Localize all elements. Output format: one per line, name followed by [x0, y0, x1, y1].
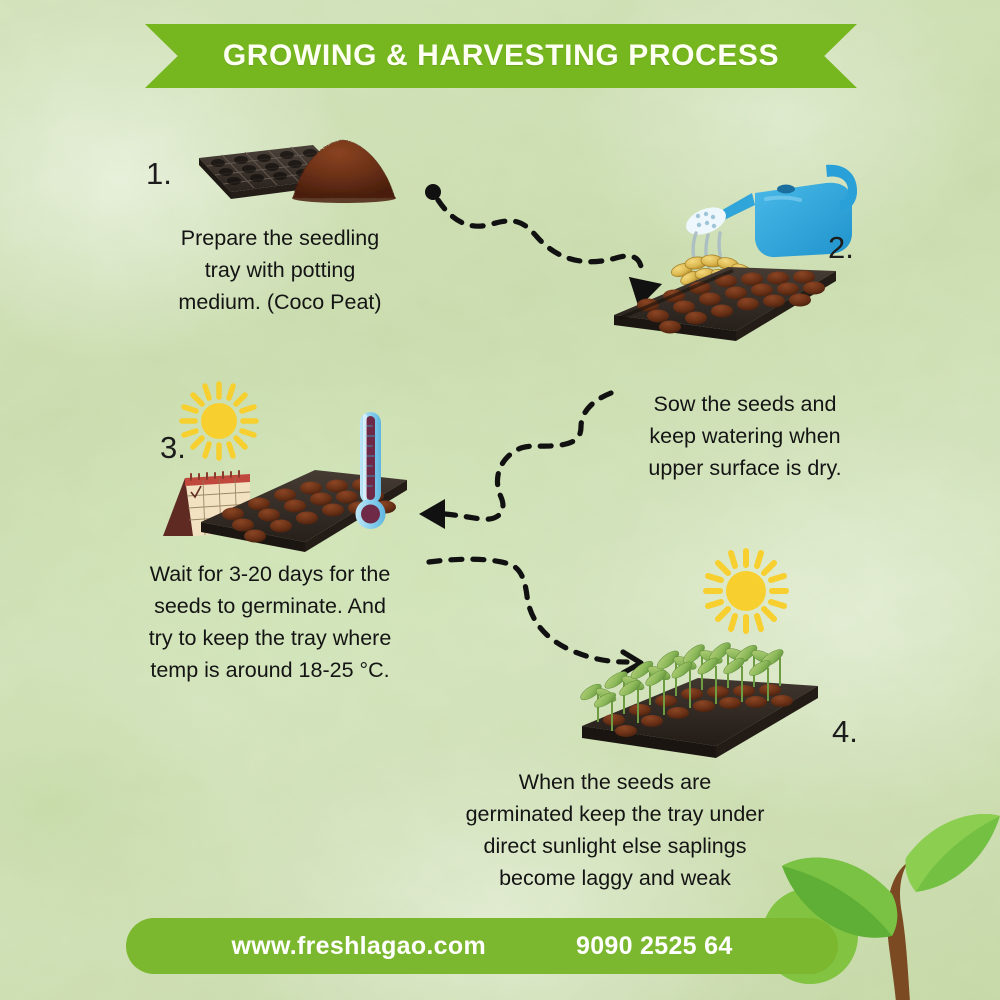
step-4-sun-icon: [700, 545, 792, 637]
step-3-illustration: [155, 418, 415, 548]
footer-website[interactable]: www.freshlagao.com: [231, 932, 486, 961]
footer-contact-bar: www.freshlagao.com 9090 2525 64: [126, 918, 838, 974]
step-4-illustration: [570, 630, 830, 760]
page-title: GROWING & HARVESTING PROCESS: [223, 39, 779, 73]
step-3-number: 3.: [160, 430, 186, 466]
arrow-step2-to-step3: [415, 385, 620, 545]
banner-ribbon: GROWING & HARVESTING PROCESS: [145, 24, 857, 88]
step-3-text: Wait for 3-20 days for the seeds to germ…: [120, 558, 420, 686]
step-1-text: Prepare the seedling tray with potting m…: [130, 222, 430, 318]
thermometer-icon: [356, 412, 386, 529]
step-4-text: When the seeds are germinated keep the t…: [425, 766, 805, 894]
footer-phone[interactable]: 9090 2525 64: [576, 932, 733, 961]
step-4-number: 4.: [832, 714, 858, 750]
filled-seedling-tray: [614, 267, 836, 341]
step-2-text: Sow the seeds and keep watering when upp…: [600, 388, 890, 484]
germinated-seedling-tray: [578, 640, 818, 758]
step-2-illustration: [600, 145, 860, 350]
step-1-number: 1.: [146, 156, 172, 192]
step-2-number: 2.: [828, 230, 854, 266]
step-1-illustration: [185, 136, 410, 208]
title-banner: GROWING & HARVESTING PROCESS: [145, 24, 857, 88]
infographic-poster: GROWING & HARVESTING PROCESS: [0, 0, 1000, 1000]
